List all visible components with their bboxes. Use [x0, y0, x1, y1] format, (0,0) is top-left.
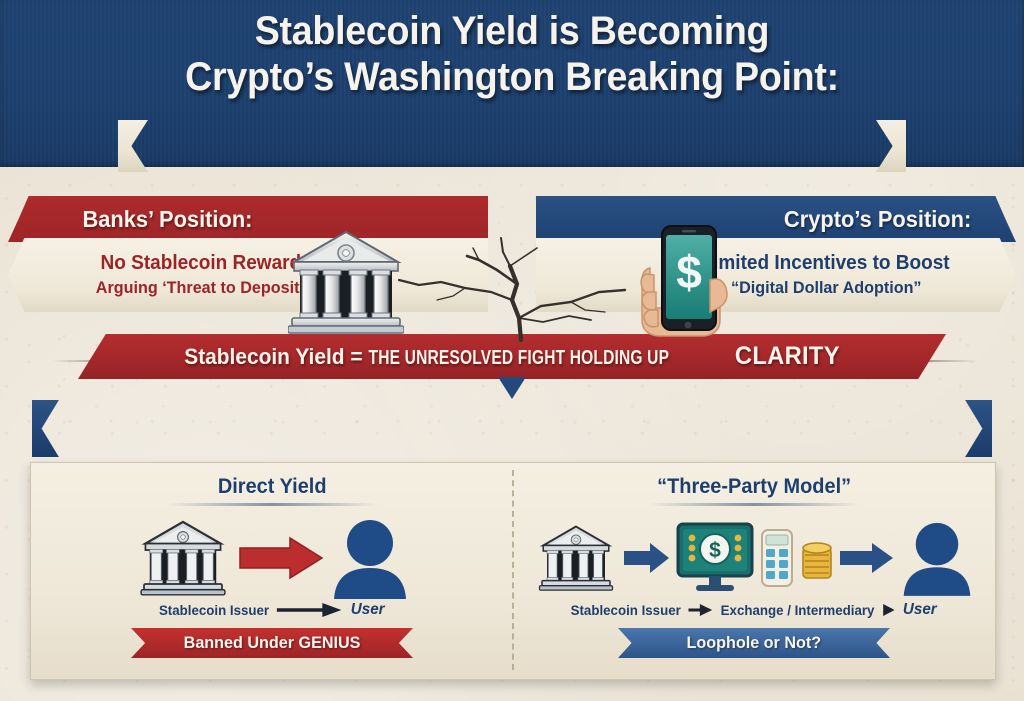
direct-yield-flow-labels: Stablecoin Issuer User	[159, 601, 385, 619]
blue-arrow-icon	[624, 541, 670, 575]
three-party-model-title: “Three-Party Model”	[657, 475, 851, 499]
coin-stack-icon	[800, 534, 834, 582]
direct-yield-column: Direct Yield	[31, 463, 513, 679]
equation-part-1: Stablecoin Yield =	[184, 344, 368, 369]
user-silhouette-icon	[900, 520, 974, 596]
monitor-dollar-icon: $	[676, 522, 754, 594]
three-party-to-label: User	[903, 601, 937, 619]
black-arrow-icon	[689, 603, 714, 617]
svg-text:$: $	[676, 246, 702, 298]
equation-part-3: CLARITY	[735, 342, 840, 370]
page-title: Stablecoin Yield is Becoming Crypto’s Wa…	[31, 9, 994, 100]
three-party-model-rule	[649, 503, 859, 506]
direct-yield-to-label: User	[351, 601, 385, 619]
three-party-flow-labels: Stablecoin Issuer Exchange / Intermediar…	[571, 601, 937, 619]
banned-under-genius-tag: Banned Under GENIUS	[131, 628, 413, 658]
equation-text: Stablecoin Yield = THE UNRESOLVED FIGHT …	[184, 342, 840, 371]
bank-building-icon	[288, 228, 404, 336]
direct-yield-rule	[167, 503, 377, 506]
red-arrow-icon	[238, 535, 324, 581]
crypto-position-line2: “Digital Dollar Adoption”	[731, 277, 922, 298]
blue-arrow-icon	[840, 541, 894, 575]
bank-building-icon	[134, 519, 232, 597]
calculator-icon	[760, 528, 794, 588]
loophole-or-not-label: Loophole or Not?	[687, 633, 822, 653]
infographic-canvas: Stablecoin Yield is Becoming Crypto’s Wa…	[0, 0, 1024, 701]
equation-part-2: THE UNRESOLVED FIGHT HOLDING UP	[368, 347, 669, 370]
black-arrow-icon	[277, 602, 344, 618]
direct-yield-title: Direct Yield	[218, 475, 327, 499]
direct-yield-from-label: Stablecoin Issuer	[159, 602, 269, 618]
three-party-from-label: Stablecoin Issuer	[571, 602, 681, 618]
title-line-1: Stablecoin Yield is Becoming	[31, 9, 994, 55]
phone-dollar-icon: $	[636, 222, 740, 344]
svg-text:$: $	[709, 539, 721, 562]
title-line-2: Crypto’s Washington Breaking Point:	[31, 55, 994, 101]
banks-position-line1: No Stablecoin Rewards	[100, 252, 311, 276]
three-party-model-column: “Three-Party Model”	[513, 463, 995, 679]
banks-position-heading: Banks’ Position:	[82, 206, 252, 233]
bank-building-icon	[534, 524, 618, 592]
debate-ribbon: What’s Being Debated?	[32, 400, 992, 457]
direct-yield-flow	[31, 510, 513, 605]
user-silhouette-icon	[330, 517, 410, 599]
crack-icon	[393, 222, 653, 342]
loophole-or-not-tag: Loophole or Not?	[618, 628, 890, 658]
banned-under-genius-label: Banned Under GENIUS	[184, 633, 361, 653]
banks-position-line2: Arguing ‘Threat to Deposits”	[96, 277, 317, 298]
crypto-position-heading: Crypto’s Position:	[784, 206, 971, 233]
black-triangle-icon	[882, 603, 895, 617]
panel-divider	[512, 470, 514, 670]
debate-ribbon-label: What’s Being Debated?	[380, 414, 644, 443]
ribbon-notch	[498, 377, 526, 399]
three-party-mid-label: Exchange / Intermediary	[721, 602, 875, 618]
three-party-model-flow: $	[513, 510, 995, 605]
